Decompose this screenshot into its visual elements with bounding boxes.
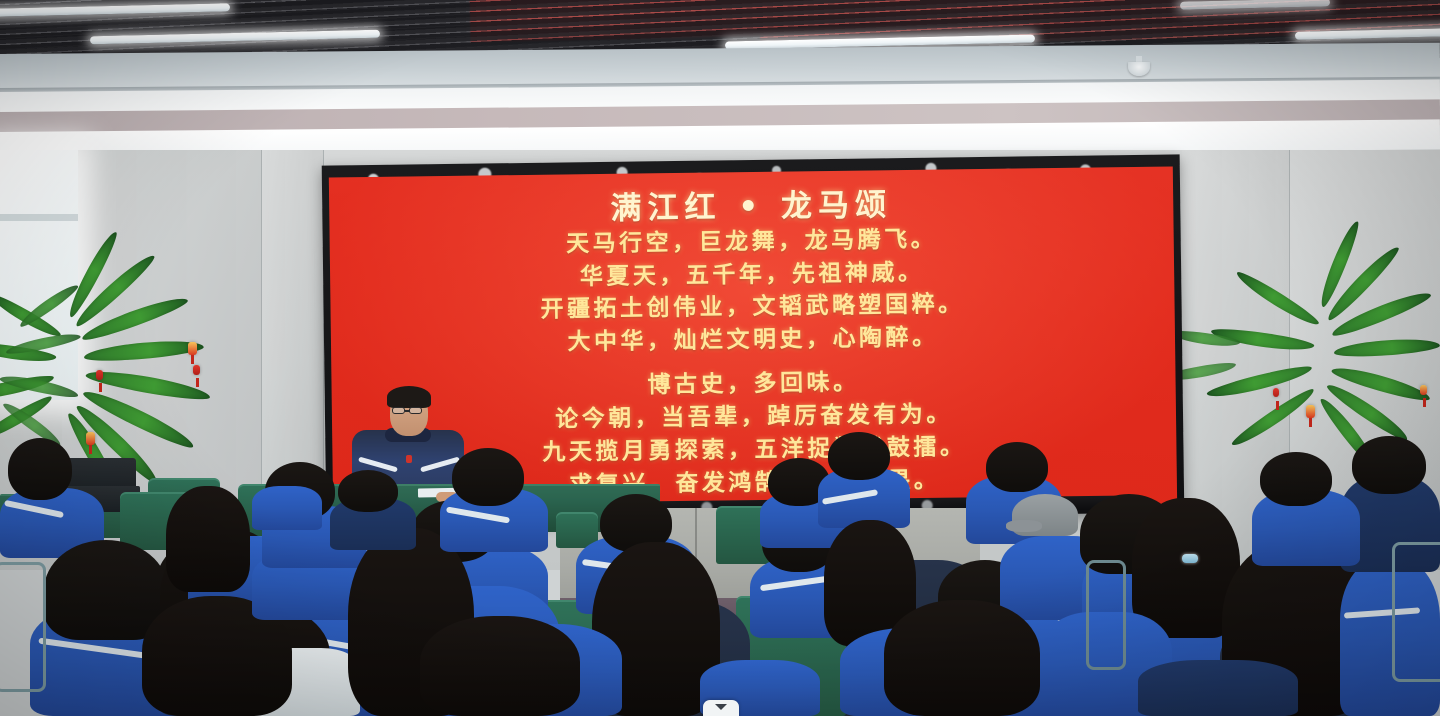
chair-frame xyxy=(1392,542,1440,682)
lantern-decoration xyxy=(1306,405,1315,418)
hair-clip-accessory xyxy=(1182,554,1198,563)
lantern-decoration xyxy=(86,432,95,445)
eyeglasses-icon xyxy=(409,407,422,414)
eyeglasses-icon xyxy=(392,407,405,414)
chevron-down-icon xyxy=(715,704,727,710)
eyeglasses-bridge xyxy=(405,410,410,412)
window-mullion xyxy=(0,214,78,221)
chair-frame xyxy=(1086,560,1126,670)
lantern-decoration xyxy=(1273,388,1279,397)
meeting-hall-photo: 满江红 • 龙马颂 天马行空，巨龙舞，龙马腾飞。 华夏天，五千年，先祖神威。 开… xyxy=(0,0,1440,716)
speaker-hair xyxy=(387,386,431,408)
daylight-window xyxy=(0,150,78,400)
lantern-decoration xyxy=(188,342,197,355)
speaker-lapel-badge xyxy=(406,455,412,463)
lantern-decoration xyxy=(96,370,103,380)
poem-stanza-one: 天马行空，巨龙舞，龙马腾飞。 华夏天，五千年，先祖神威。 开疆拓土创伟业，文韬武… xyxy=(330,220,1176,363)
lantern-decoration xyxy=(1420,385,1427,395)
chair-frame xyxy=(0,562,46,692)
scroll-collapse-tab[interactable] xyxy=(703,700,739,716)
lantern-decoration xyxy=(193,365,200,375)
